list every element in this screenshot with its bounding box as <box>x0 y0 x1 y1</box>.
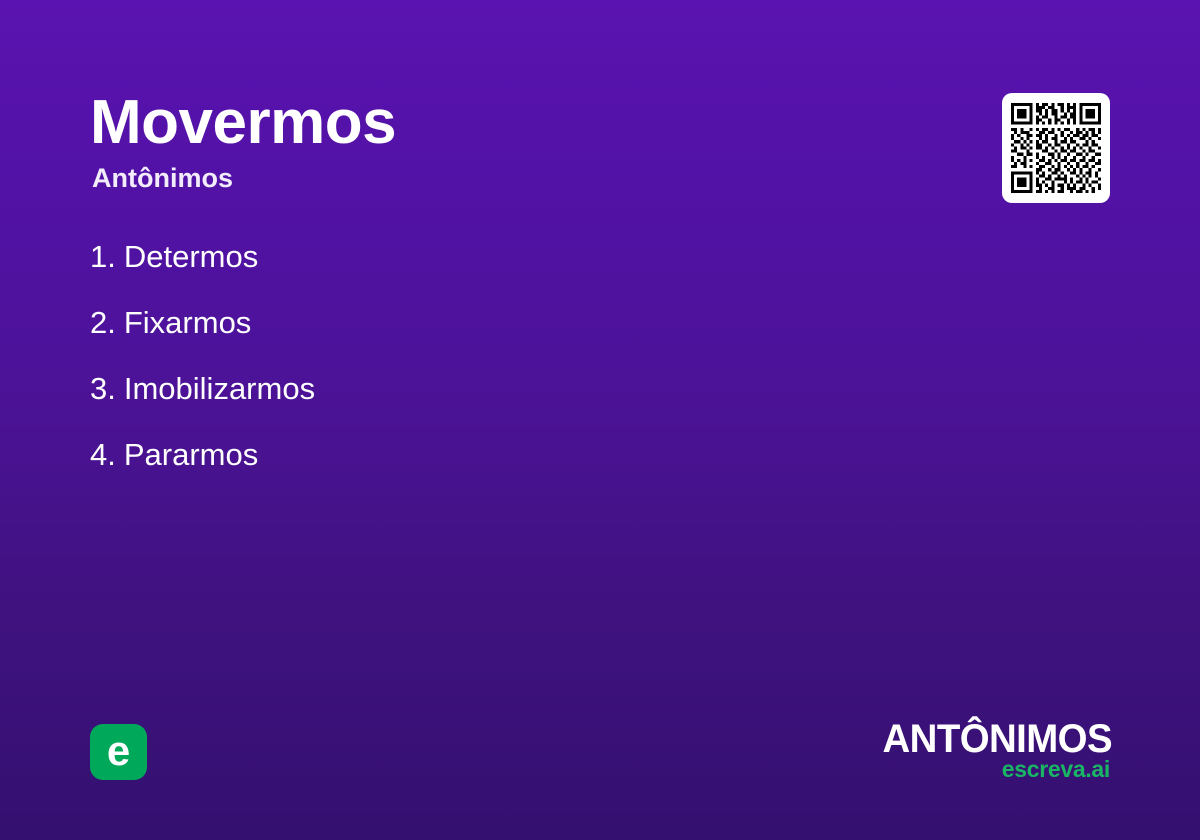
list-item-index: 2. <box>90 305 116 340</box>
header-block: Movermos Antônimos <box>90 88 950 194</box>
antonyms-list: 1.Determos 2.Fixarmos 3.Imobilizarmos 4.… <box>90 238 950 474</box>
brand-lockup: ANTÔNIMOS escreva.ai <box>812 718 1112 781</box>
list-item-index: 1. <box>90 239 116 274</box>
list-item: 3.Imobilizarmos <box>90 370 950 408</box>
qr-code-icon <box>1011 102 1101 194</box>
list-item: 4.Pararmos <box>90 436 950 474</box>
page-title: Movermos <box>90 88 950 158</box>
list-item-word: Imobilizarmos <box>124 371 315 406</box>
brand-name: ANTÔNIMOS <box>824 718 1112 760</box>
list-item-word: Determos <box>124 239 258 274</box>
list-item-word: Pararmos <box>124 437 258 472</box>
list-item-index: 4. <box>90 437 116 472</box>
page-subtitle: Antônimos <box>92 162 950 194</box>
escreva-app-badge[interactable]: e <box>90 724 147 780</box>
antonyms-word-card: Movermos Antônimos 1.Determos 2.Fixarmos… <box>0 0 1200 840</box>
list-item-index: 3. <box>90 371 116 406</box>
badge-letter: e <box>107 730 130 772</box>
qr-code[interactable] <box>1002 93 1110 203</box>
list-item: 1.Determos <box>90 238 950 276</box>
list-item: 2.Fixarmos <box>90 304 950 342</box>
list-item-word: Fixarmos <box>124 305 251 340</box>
